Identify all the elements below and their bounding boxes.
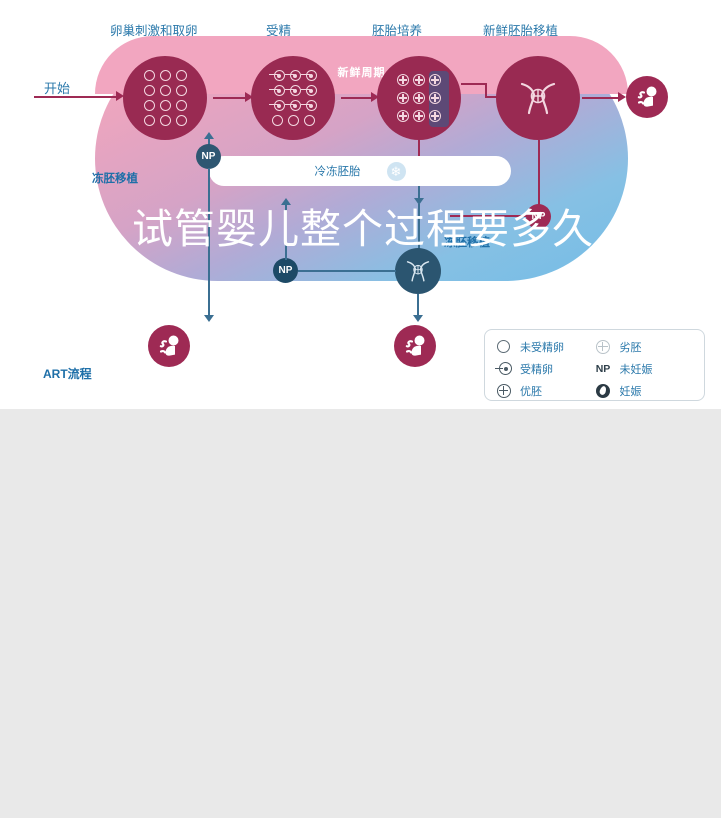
unfertilized-egg-icon [144,85,155,96]
frame-right-edge [0,417,10,818]
np-badge-fet-left: NP [196,144,221,169]
baby-outcome-fet-right [394,325,436,367]
embryo-grid [395,71,443,125]
frame-left-edge [0,8,10,417]
oocyte-grid [141,68,189,128]
connector-3-4-h1 [461,83,487,85]
baby-outcome-fresh [626,76,668,118]
connector-fet-np-line [298,270,396,272]
node-embryo-culture [377,56,461,140]
art-flow-label: ART流程 [43,365,92,382]
legend-label: 受精卵 [520,361,553,377]
fertilized-egg-icon [269,69,285,82]
good-embryo-icon [429,92,441,104]
legend-label: 劣胚 [620,339,642,355]
baby-icon [401,332,429,360]
fertilized-egg-icon [269,84,285,97]
legend-item-poor-embryo: 劣胚 [595,338,695,355]
fertilized-egg-icon [301,69,317,82]
good-embryo-icon [495,382,512,399]
fertilized-egg-icon [495,360,512,377]
fertilized-grid [269,68,317,128]
legend-label: 优胚 [520,383,542,399]
good-embryo-icon [413,74,425,86]
connector-2-3 [341,97,373,99]
connector-fet-to-baby-arrow [413,315,423,322]
connector-1-2 [213,97,247,99]
node-fresh-embryo-transfer [496,56,580,140]
frozen-embryos-pill: 冷冻胚胎 ❄ [209,156,511,186]
art-flow-infographic: 卵巢刺激和取卵 受精 胚胎培养 新鲜胚胎移植 新鲜周期 开始 [0,0,721,409]
baby-icon [633,83,661,111]
legend-label: 妊娠 [620,383,642,399]
unfertilized-egg-icon [160,70,171,81]
good-embryo-icon [429,110,441,122]
unfertilized-egg-icon [495,338,512,355]
good-embryo-icon [413,110,425,122]
fertilized-egg-icon [285,69,301,82]
connector-fet-left-down-arrow [204,315,214,322]
np-badge-fet-right: NP [273,258,298,283]
start-arrow-line [34,96,118,98]
np-text-icon: NP [595,360,612,377]
good-embryo-icon [397,110,409,122]
connector-fet-left-up-arrow [204,132,214,139]
legend-panel: 未受精卵 劣胚 受精卵 NP 未妊娠 优胚 [484,329,705,401]
legend-item-not-pregnant: NP 未妊娠 [595,360,695,377]
legend-label: 未妊娠 [620,361,653,377]
uterus-icon [403,256,433,286]
fet-label-left: 冻胚移植 [92,170,138,186]
unfertilized-egg-icon [176,115,187,126]
good-embryo-icon [397,74,409,86]
good-embryo-icon [429,74,441,86]
poor-embryo-icon [595,338,612,355]
snowflake-icon: ❄ [387,162,406,181]
unfertilized-egg-icon [272,115,283,126]
frozen-thaw-cycle-label: 冻融周期 [331,286,375,302]
connector-4-baby [582,97,620,99]
legend-item-good-embryo: 优胚 [495,382,595,399]
legend-grid: 未受精卵 劣胚 受精卵 NP 未妊娠 优胚 [495,338,694,399]
good-embryo-icon [413,92,425,104]
unfertilized-egg-icon [160,115,171,126]
unfertilized-egg-icon [160,85,171,96]
start-label: 开始 [44,78,70,97]
unfertilized-egg-icon [288,115,299,126]
good-embryo-icon [397,92,409,104]
fertilized-egg-icon [269,99,285,112]
unfertilized-egg-icon [304,115,315,126]
fertilized-egg-icon [285,99,301,112]
connector-4-baby-arrow [618,92,626,102]
legend-item-unfertilized: 未受精卵 [495,338,595,355]
legend-item-pregnancy: 妊娠 [595,382,695,399]
unfertilized-egg-icon [176,85,187,96]
pregnancy-icon [595,382,612,399]
unfertilized-egg-icon [144,70,155,81]
uterus-icon [515,75,561,121]
node-fertilization [251,56,335,140]
fertilized-egg-icon [301,84,317,97]
legend-label: 未受精卵 [520,339,564,355]
unfertilized-egg-icon [144,115,155,126]
frame-top-edge [0,0,721,8]
unfertilized-egg-icon [144,100,155,111]
legend-item-fertilized: 受精卵 [495,360,595,377]
frozen-embryos-label: 冷冻胚胎 [315,163,361,179]
unfertilized-egg-icon [160,100,171,111]
fertilized-egg-icon [285,84,301,97]
unfertilized-egg-icon [176,100,187,111]
node-oocyte-retrieval [123,56,207,140]
overlay-title: 试管婴儿整个过程要多久 [132,195,602,255]
diagram-canvas: 卵巢刺激和取卵 受精 胚胎培养 新鲜胚胎移植 新鲜周期 开始 [10,8,711,397]
fertilized-egg-icon [301,99,317,112]
unfertilized-egg-icon [176,70,187,81]
